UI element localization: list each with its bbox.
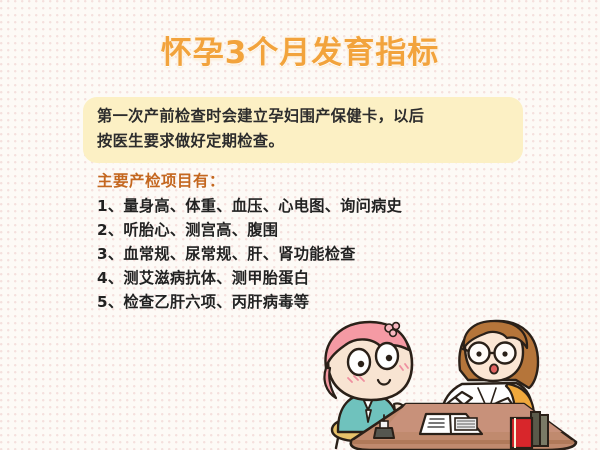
list-item: 2、听胎心、测宫高、腹围 [97,218,517,242]
book-stack [511,412,548,448]
page-title-block: 怀孕3个月发育指标 [0,33,600,73]
list-item: 3、血常规、尿常规、肝、肾功能检查 [97,242,517,266]
page-title: 怀孕3个月发育指标 [161,33,440,73]
intro-line: 按医生要求做好定期检查。 [97,129,509,154]
list-item: 1、量身高、体重、血压、心电图、询问病史 [97,194,517,218]
checklist-block: 主要产检项目有： 1、量身高、体重、血压、心电图、询问病史 2、听胎心、测宫高、… [97,168,517,314]
list-item: 5、检查乙肝六项、丙肝病毒等 [97,290,517,314]
poster-canvas: 怀孕3个月发育指标 第一次产前检查时会建立孕妇围产保健卡，以后 按医生要求做好定… [0,0,600,450]
intro-highlight-box: 第一次产前检查时会建立孕妇围产保健卡，以后 按医生要求做好定期检查。 [83,97,523,163]
list-item: 4、测艾滋病抗体、测甲胎蛋白 [97,266,517,290]
consultation-illustration [310,318,600,450]
checklist-heading: 主要产检项目有： [97,168,517,194]
intro-line: 第一次产前检查时会建立孕妇围产保健卡，以后 [97,104,509,129]
